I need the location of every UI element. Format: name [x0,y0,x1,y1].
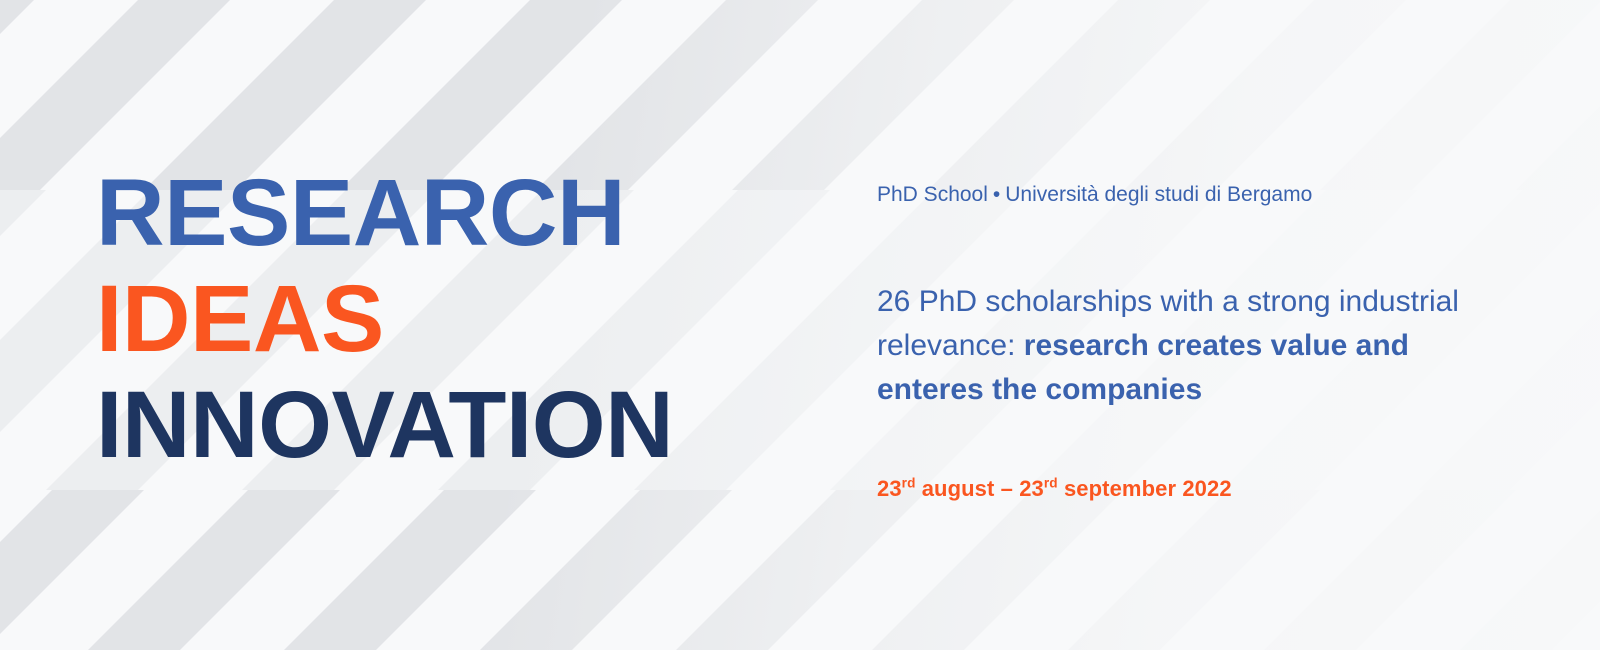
date-end-month: september [1064,476,1176,501]
bullet-separator-icon: • [988,183,1005,206]
info-block: PhD School•Università degli studi di Ber… [877,180,1517,210]
date-range: 23rd august – 23rd september 2022 [877,476,1232,502]
banner-content: RESEARCH IDEAS INNOVATION PhD School•Uni… [0,0,1600,650]
headline-line-innovation: INNOVATION [96,372,673,478]
headline-block: RESEARCH IDEAS INNOVATION [96,160,673,478]
eyebrow-line: PhD School•Università degli studi di Ber… [877,180,1517,210]
date-start-ordinal: rd [902,476,916,491]
lede-paragraph: 26 PhD scholarships with a strong indust… [877,280,1497,412]
date-start-month: august [922,476,995,501]
date-end-ordinal: rd [1044,476,1058,491]
promotional-banner: RESEARCH IDEAS INNOVATION PhD School•Uni… [0,0,1600,650]
date-end-day: 23 [1019,476,1044,501]
date-range-separator: – [1001,476,1013,501]
eyebrow-institution: Università degli studi di Bergamo [1005,183,1312,206]
date-start-day: 23 [877,476,902,501]
eyebrow-organisation: PhD School [877,183,988,206]
date-year: 2022 [1182,476,1231,501]
headline-line-ideas: IDEAS [96,266,673,372]
headline-line-research: RESEARCH [96,160,673,266]
